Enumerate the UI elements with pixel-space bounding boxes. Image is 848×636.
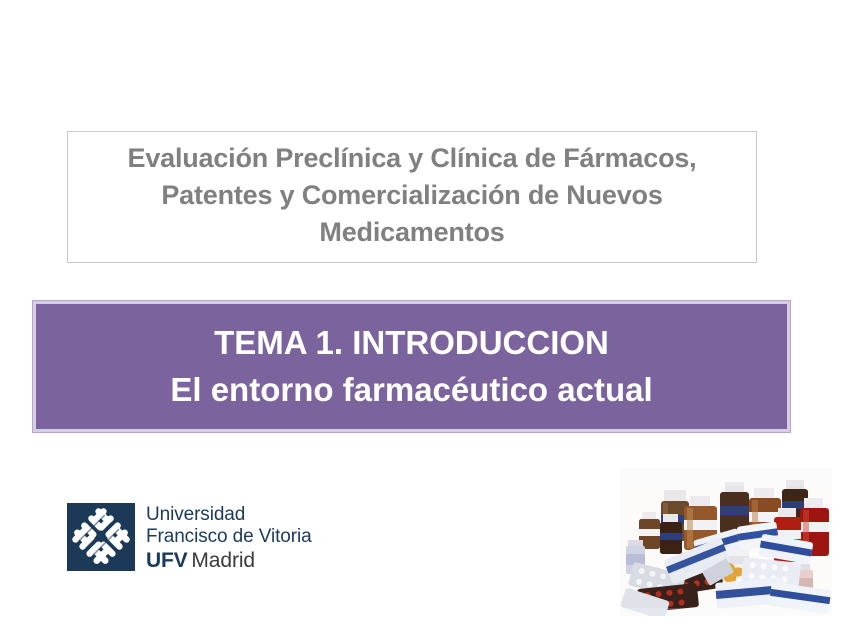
topic-banner: TEMA 1. INTRODUCCION El entorno farmacéu… xyxy=(33,301,790,432)
logo-line-ufv-madrid: UFVMadrid xyxy=(146,549,312,575)
course-title-line-2: Patentes y Comercialización de Nuevos xyxy=(161,177,662,214)
course-title-line-1: Evaluación Preclínica y Clínica de Fárma… xyxy=(128,140,697,177)
course-title-line-3: Medicamentos xyxy=(319,214,504,251)
presentation-slide: Evaluación Preclínica y Clínica de Fárma… xyxy=(0,0,848,636)
course-title-box: Evaluación Preclínica y Clínica de Fárma… xyxy=(67,131,757,263)
topic-subheading: El entorno farmacéutico actual xyxy=(170,366,652,414)
logo-wordmark: Universidad Francisco de Vitoria UFVMadr… xyxy=(146,503,312,575)
pharmaceutical-products-photo xyxy=(620,468,832,616)
logo-abbreviation: UFV xyxy=(146,549,187,572)
logo-line-universidad: Universidad xyxy=(146,504,312,526)
logo-city: Madrid xyxy=(191,549,255,572)
logo-line-francisco-de-vitoria: Francisco de Vitoria xyxy=(146,526,312,548)
university-logo: Universidad Francisco de Vitoria UFVMadr… xyxy=(67,503,357,583)
ufv-woven-diamond-logo-mark-icon xyxy=(67,503,135,571)
topic-heading: TEMA 1. INTRODUCCION xyxy=(214,320,609,366)
